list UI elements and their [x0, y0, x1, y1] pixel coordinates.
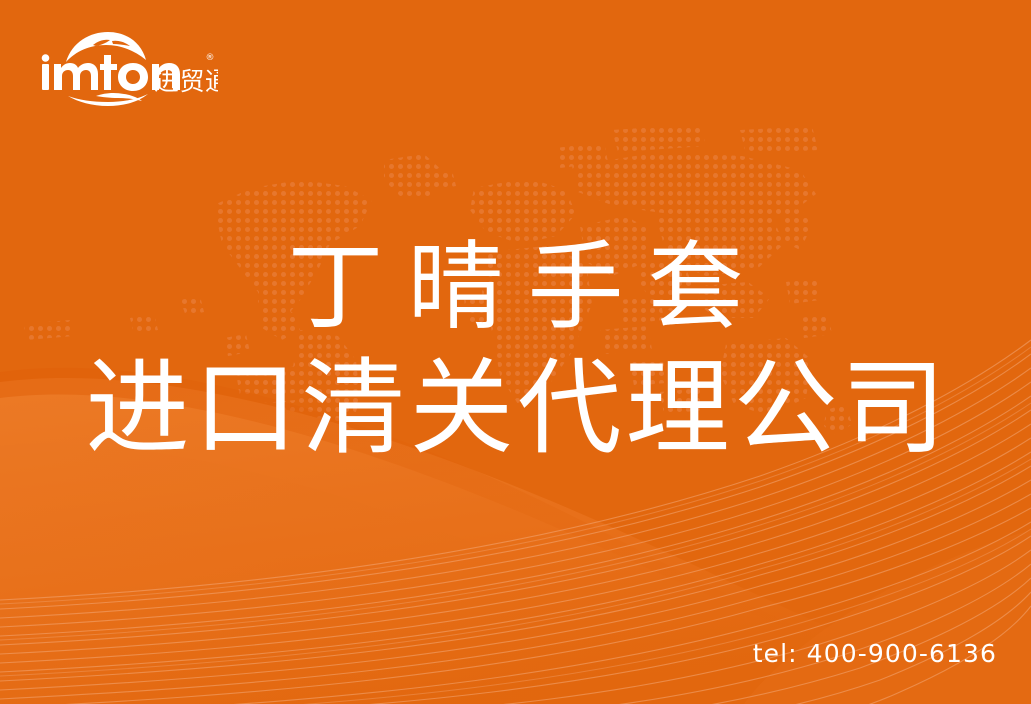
headline-line-1: 丁晴手套 [0, 228, 1031, 346]
swoosh-icon [68, 93, 148, 106]
brand-logo[interactable]: 进贸通 ® [38, 28, 218, 106]
logo-chinese-characters: 进贸通 [154, 67, 218, 96]
headline-line-2: 进口清关代理公司 [0, 346, 1031, 470]
logo-chinese-text: 进贸通 [154, 67, 218, 96]
contact-phone[interactable]: tel: 400-900-6136 [753, 639, 997, 668]
headline-block: 丁晴手套 进口清关代理公司 [0, 228, 1031, 470]
promo-banner: 进贸通 ® 丁晴手套 进口清关代理公司 tel: 400-900-6136 [0, 0, 1031, 704]
registered-mark: ® [206, 53, 215, 63]
